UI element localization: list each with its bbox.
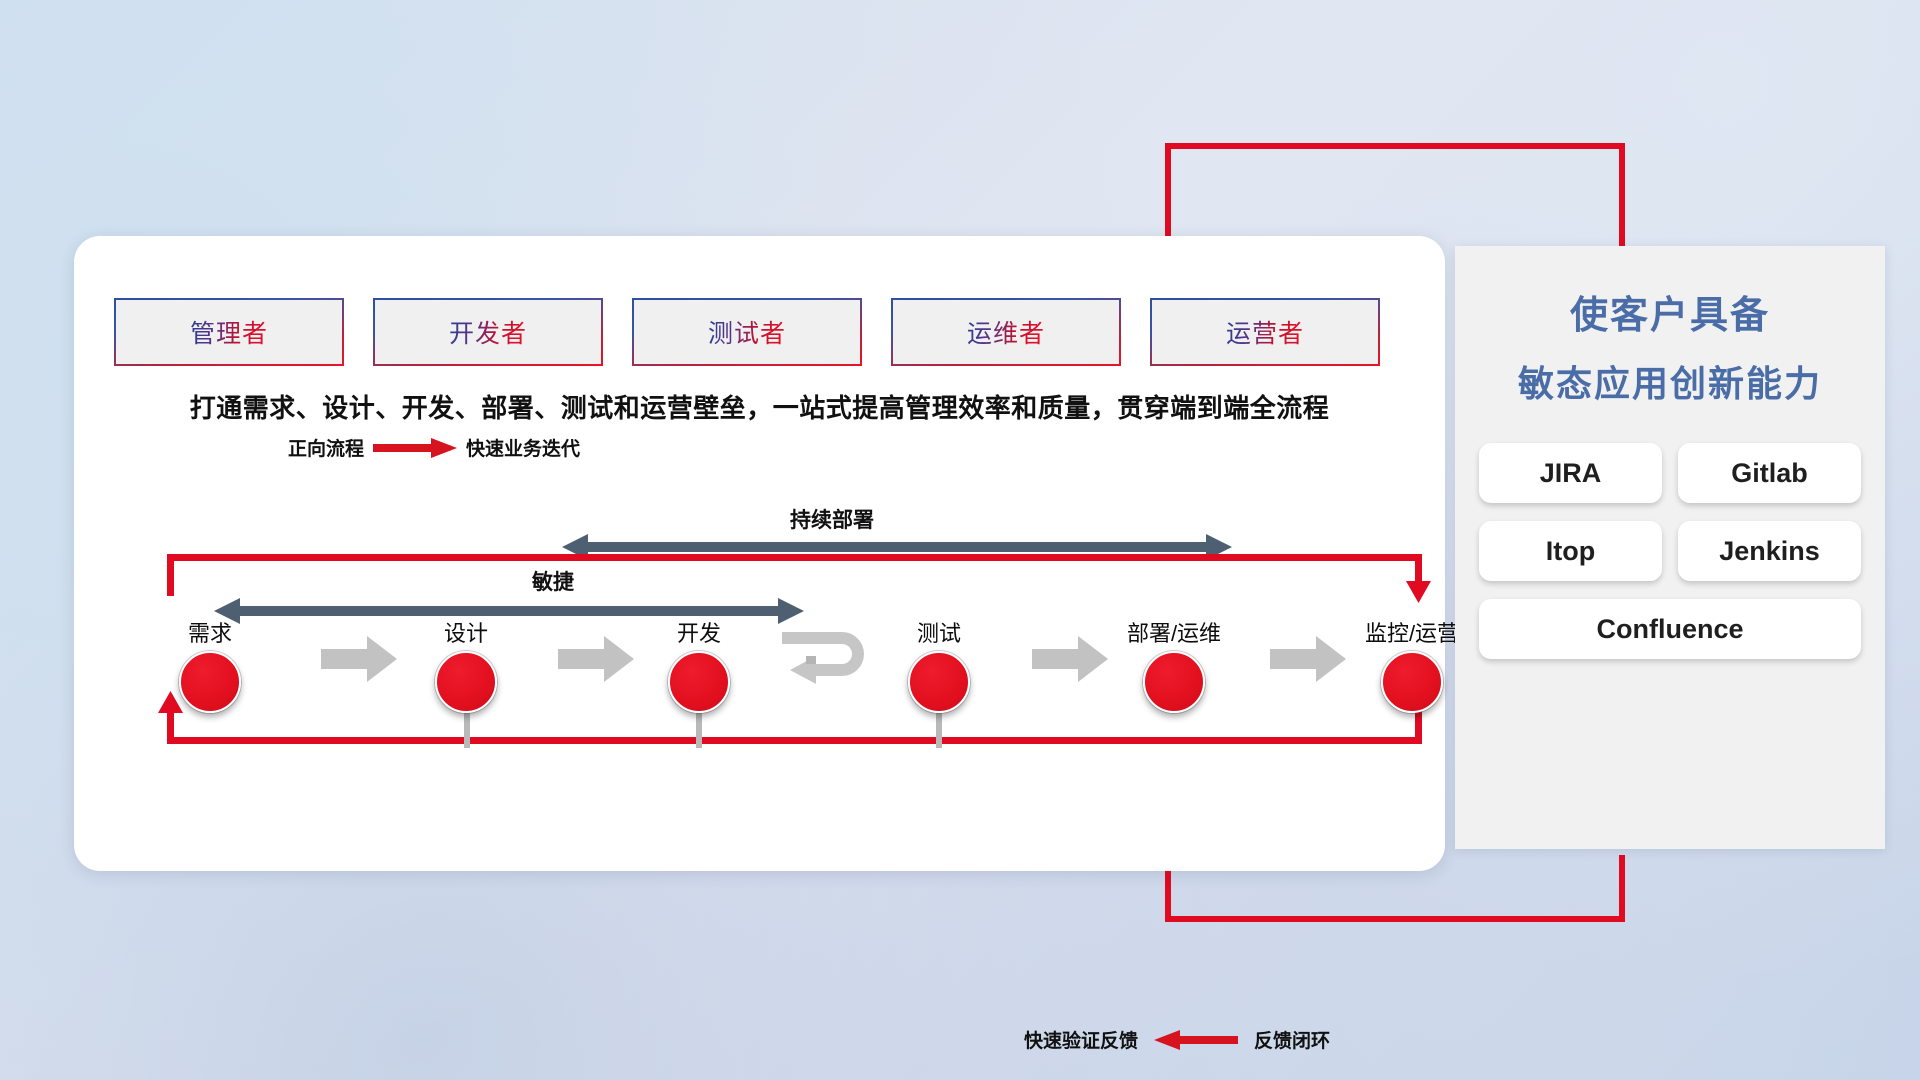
red-loop-top [167, 554, 1422, 561]
feedback-caption: 快速验证反馈 反馈闭环 [1024, 1026, 1330, 1053]
stage-node-requirements[interactable]: 需求 [150, 616, 270, 713]
left-red-arrow-icon [1154, 1030, 1238, 1050]
feedback-left-label: 快速验证反馈 [1024, 1026, 1138, 1053]
tool-chip-jenkins[interactable]: Jenkins [1678, 521, 1861, 581]
stage-label: 设计 [406, 616, 526, 648]
stage-label: 开发 [639, 616, 759, 648]
stage-node-test[interactable]: 测试 [879, 616, 999, 713]
gray-right-arrow-icon-4 [1270, 636, 1346, 682]
feedback-right-label: 反馈闭环 [1254, 1026, 1330, 1053]
red-bracket-bottom-right [1619, 855, 1625, 922]
slide-canvas: 管理者 开发者 测试者 运维者 运营者 打通需求、设计、开发、部署、测试和运营壁… [0, 0, 1920, 1080]
tool-chip-confluence[interactable]: Confluence [1479, 599, 1861, 659]
stage-dot [435, 651, 497, 713]
gray-right-arrow-icon-2 [558, 636, 634, 682]
tool-chip-gitlab[interactable]: Gitlab [1678, 443, 1861, 503]
devops-pipeline-card: 管理者 开发者 测试者 运维者 运营者 打通需求、设计、开发、部署、测试和运营壁… [74, 236, 1445, 871]
stage-node-monitor-operate[interactable]: 监控/运营 [1352, 616, 1472, 713]
stage-dot [1143, 651, 1205, 713]
panel-title-line1: 使客户具备 [1455, 284, 1885, 339]
band-label-agile: 敏捷 [532, 566, 574, 596]
tool-chip-itop[interactable]: Itop [1479, 521, 1662, 581]
red-loop-arrowhead-down [1406, 581, 1431, 603]
stage-dot [908, 651, 970, 713]
red-loop-bottom [167, 737, 1422, 744]
tool-chip-jira[interactable]: JIRA [1479, 443, 1662, 503]
stage-label: 监控/运营 [1352, 616, 1472, 648]
stage-node-develop[interactable]: 开发 [639, 616, 759, 713]
stage-dot [1381, 651, 1443, 713]
gray-right-arrow-icon-1 [321, 636, 397, 682]
red-loop-top-left [167, 554, 174, 596]
red-bracket-top [1165, 143, 1625, 149]
pipeline-region: 持续部署 敏捷 [74, 236, 1445, 871]
gray-right-arrow-icon-3 [1032, 636, 1108, 682]
tool-chip-grid: JIRA Gitlab Itop Jenkins Confluence [1455, 443, 1885, 659]
stage-label: 需求 [150, 616, 270, 648]
stage-label: 测试 [879, 616, 999, 648]
band-label-continuous-deployment: 持续部署 [790, 504, 874, 534]
stage-label: 部署/运维 [1114, 616, 1234, 648]
stage-node-design[interactable]: 设计 [406, 616, 526, 713]
panel-title-line2: 敏态应用创新能力 [1455, 355, 1885, 407]
stage-dot [179, 651, 241, 713]
gray-cycle-arrow-icon [780, 626, 880, 696]
stage-dot [668, 651, 730, 713]
red-bracket-bottom [1165, 916, 1625, 922]
stage-node-deploy-ops[interactable]: 部署/运维 [1114, 616, 1234, 713]
value-proposition-panel: 使客户具备 敏态应用创新能力 JIRA Gitlab Itop Jenkins … [1455, 246, 1885, 849]
